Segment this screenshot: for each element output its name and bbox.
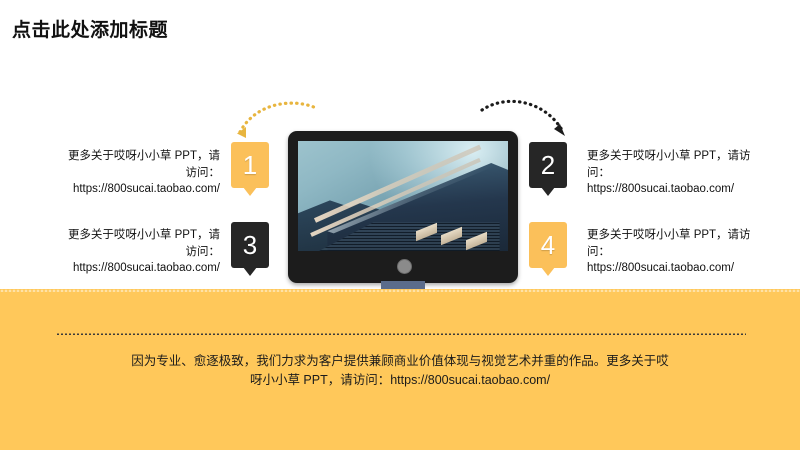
callout-badge-1-number: 1 <box>243 152 257 178</box>
callout-badge-4-number: 4 <box>541 232 555 258</box>
callout-badge-3-number: 3 <box>243 232 257 258</box>
monitor-home-button-icon <box>397 259 412 274</box>
footer-band-top-dotted-edge <box>0 289 800 292</box>
monitor-screen <box>298 141 508 251</box>
callout-text-1: 更多关于哎呀小小草 PPT，请访问：https://800sucai.taoba… <box>60 148 220 198</box>
callout-text-2: 更多关于哎呀小小草 PPT，请访问：https://800sucai.taoba… <box>587 148 752 198</box>
callout-badge-1[interactable]: 1 <box>231 142 269 188</box>
callout-badge-4[interactable]: 4 <box>529 222 567 268</box>
footer-dotted-divider <box>56 333 746 335</box>
monitor-illustration <box>288 131 518 291</box>
callout-text-4: 更多关于哎呀小小草 PPT，请访问：https://800sucai.taoba… <box>587 227 752 277</box>
page-title: 点击此处添加标题 <box>12 15 168 42</box>
monitor-bezel <box>288 131 518 283</box>
callout-badge-2-number: 2 <box>541 152 555 178</box>
screen-photo-skyscraper <box>298 141 508 251</box>
footer-caption: 因为专业、愈逐极致，我们力求为客户提供兼顾商业价值体现与视觉艺术并重的作品。更多… <box>130 352 670 390</box>
slide-canvas: 点击此处添加标题 <box>0 0 800 450</box>
callout-text-3: 更多关于哎呀小小草 PPT，请访问：https://800sucai.taoba… <box>60 227 220 277</box>
callout-badge-2[interactable]: 2 <box>529 142 567 188</box>
callout-badge-3[interactable]: 3 <box>231 222 269 268</box>
